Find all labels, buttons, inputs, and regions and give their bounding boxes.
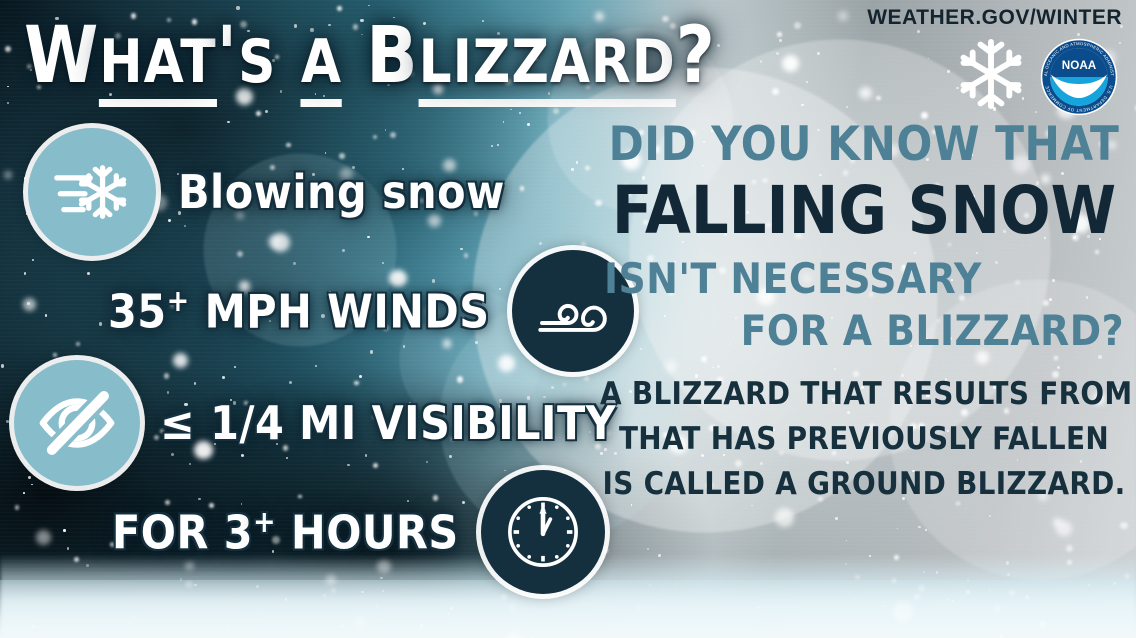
criterion-row-visibility: ≤ 1/4 MI VISIBILITY [14,360,616,486]
noaa-seal[interactable]: NOAA NATIONAL OCEANIC AND ATMOSPHERIC AD… [1040,38,1118,116]
fact-body-line-3: IS CALLED A GROUND BLIZZARD. [600,462,1128,507]
criterion-row-duration: FOR 3+ HOURS [112,470,605,594]
fact-line-for-a-blizzard: FOR A BLIZZARD? [600,306,1128,356]
clock-icon [481,470,605,594]
criterion-label-duration: FOR 3+ HOURS [112,505,459,559]
fact-body: A BLIZZARD THAT RESULTS FROM SNOW THAT H… [600,372,1128,507]
criterion-label-visibility: ≤ 1/4 MI VISIBILITY [160,396,616,450]
fact-panel: DID YOU KNOW THAT FALLING SNOW ISN'T NEC… [600,118,1128,507]
blowing-snow-icon [28,128,156,256]
criterion-row-blowing-snow: Blowing snow [28,128,505,256]
noaa-wordmark: NOAA [1062,59,1097,72]
fact-line-isnt-necessary: ISN'T NECESSARY [600,254,1128,304]
fact-body-line-1: A BLIZZARD THAT RESULTS FROM SNOW [600,372,1128,417]
snowflake-icon [958,38,1024,110]
criterion-row-wind-speed: 35+ MPH WINDS [108,250,634,372]
page-title-text: WHAT'S A BLIZZARD? [24,11,716,101]
fact-body-line-2: THAT HAS PREVIOUSLY FALLEN [600,417,1128,462]
infographic-canvas: WHAT'S A BLIZZARD? WEATHER.GOV/WINTER NO… [0,0,1136,638]
criterion-label-wind-speed: 35+ MPH WINDS [108,284,490,338]
page-title: WHAT'S A BLIZZARD? [24,14,716,104]
criterion-label-blowing-snow: Blowing snow [178,165,505,219]
fact-line-falling-snow: FALLING SNOW [600,174,1128,248]
fact-line-did-you-know: DID YOU KNOW THAT [600,118,1128,172]
no-visibility-eye-icon [14,360,140,486]
brand-url[interactable]: WEATHER.GOV/WINTER [867,6,1122,30]
